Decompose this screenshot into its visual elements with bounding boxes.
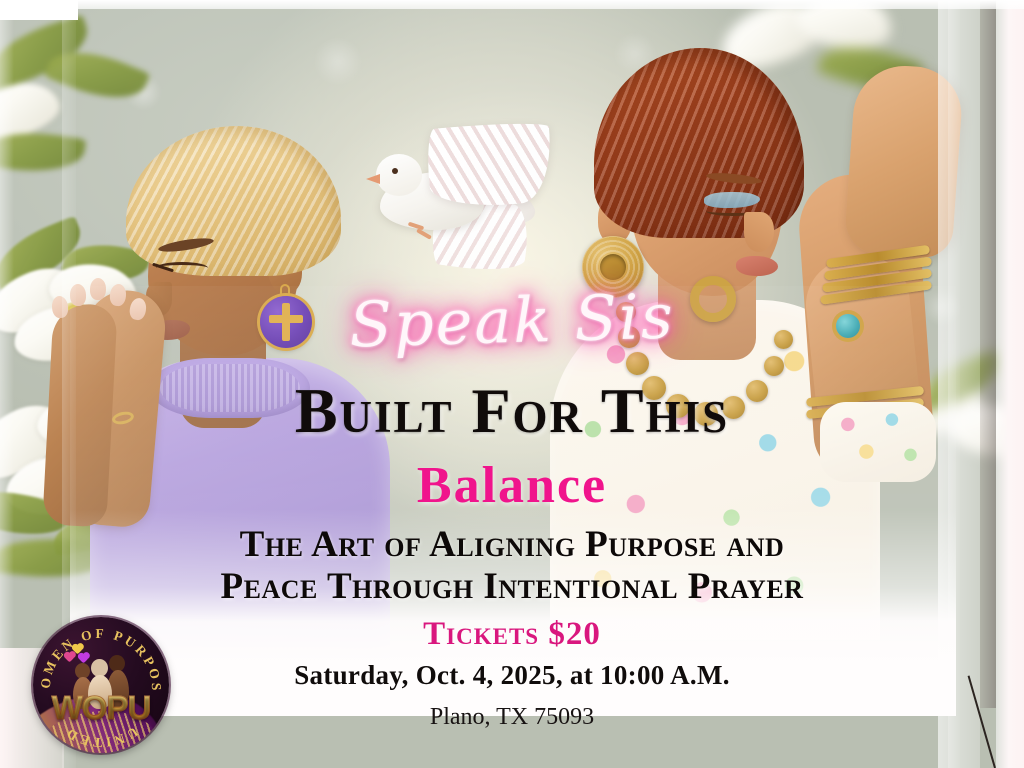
theme-title: Balance bbox=[0, 456, 1024, 515]
logo-wordmark: WOPU bbox=[33, 689, 169, 727]
logo-arc-bottom-text: UNITED bbox=[62, 724, 141, 750]
script-tagline: Speak Sis bbox=[0, 270, 1024, 372]
event-flyer: Speak Sis Built For This Balance The Art… bbox=[0, 0, 1024, 768]
wopu-logo: WOMEN OF PURPOSE UNITED WOPU bbox=[33, 617, 169, 753]
subtitle: The Art of Aligning Purpose and Peace Th… bbox=[0, 524, 1024, 608]
subtitle-line-2: Peace Through Intentional Prayer bbox=[0, 566, 1024, 608]
subtitle-line-1: The Art of Aligning Purpose and bbox=[240, 524, 785, 565]
svg-text:UNITED: UNITED bbox=[62, 724, 141, 750]
page-title: Built For This bbox=[0, 374, 1024, 448]
